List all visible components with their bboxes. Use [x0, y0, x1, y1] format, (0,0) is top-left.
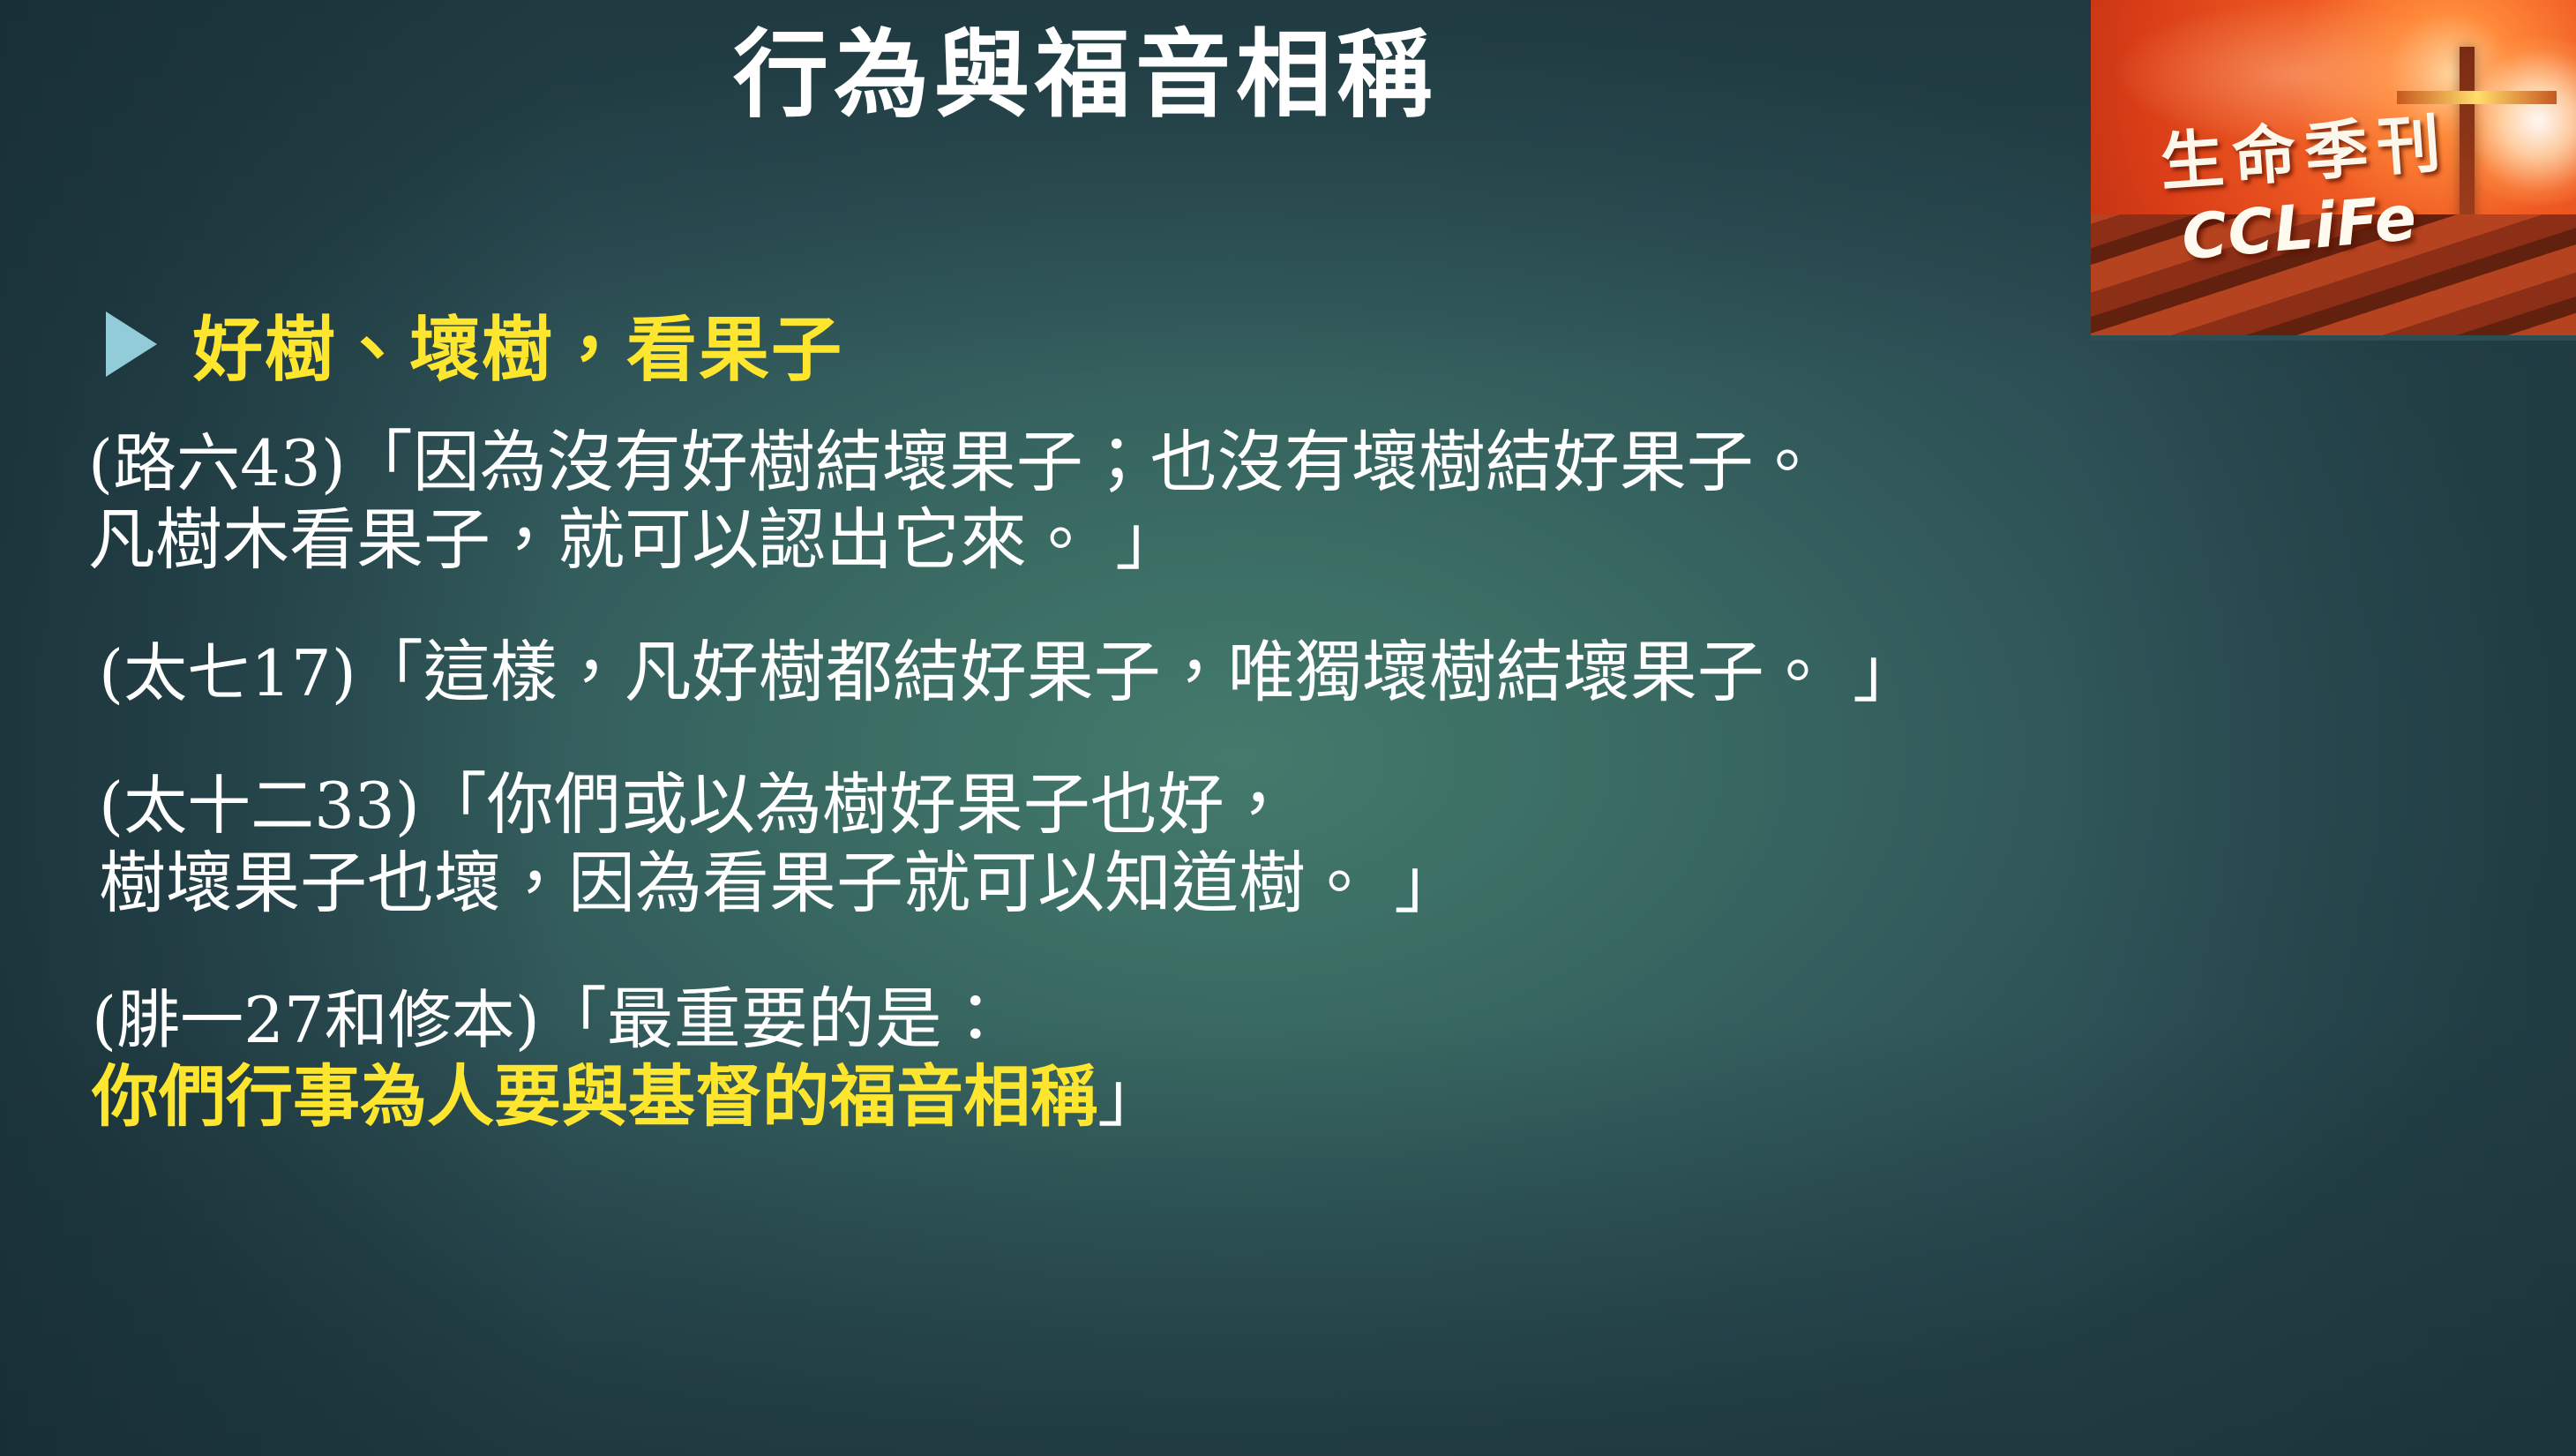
slide-body: 好樹、壞樹，看果子 (路六43)「因為沒有好樹結壞果子；也沒有壞樹結好果子。 凡…: [0, 291, 2576, 1136]
verse-reference: (太七17): [99, 636, 356, 710]
verse-text: 樹壞果子也壞，因為看果子就可以知道樹。 」: [99, 844, 1461, 922]
verse-line: (腓一27和修本)「最重要的是：: [92, 980, 2576, 1058]
verse-line: (太七17)「這樣，凡好樹都結好果子，唯獨壞樹結壞果子。 」: [99, 634, 2576, 711]
verse-line: (路六43)「因為沒有好樹結壞果子；也沒有壞樹結好果子。: [88, 424, 2576, 501]
verse-block-matthew-7-17: (太七17)「這樣，凡好樹都結好果子，唯獨壞樹結壞果子。 」: [0, 634, 2576, 711]
verse-reference: (太十二33): [99, 769, 420, 843]
bullet-item-label: 好樹、壞樹，看果子: [192, 293, 843, 395]
verse-block-matthew-12-33: (太十二33)「你們或以為樹好果子也好， 樹壞果子也壞，因為看果子就可以知道樹。…: [0, 766, 2576, 921]
verse-reference: (腓一27和修本): [92, 983, 540, 1057]
verse-block-luke-6-43: (路六43)「因為沒有好樹結壞果子；也沒有壞樹結好果子。 凡樹木看果子，就可以認…: [0, 424, 2576, 579]
verse-text-highlighted: 你們行事為人要與基督的福音相稱: [92, 1057, 1097, 1136]
triangle-bullet-icon: [106, 311, 157, 377]
verse-line: 凡樹木看果子，就可以認出它來。 」: [88, 501, 2576, 579]
page-title: 行為與福音相稱: [0, 21, 2170, 131]
verse-block-philippians-1-27: (腓一27和修本)「最重要的是： 你們行事為人要與基督的福音相稱」: [0, 980, 2576, 1136]
verse-closing-quote: 」: [1097, 1057, 1164, 1136]
bullet-item-good-bad-tree: 好樹、壞樹，看果子: [0, 291, 2576, 397]
verse-text: 「因為沒有好樹結壞果子；也沒有壞樹結好果子。: [346, 423, 1821, 501]
verse-reference: (路六43): [88, 426, 346, 500]
cclife-logo: 生命季刊 CCLiFe: [2091, 0, 2576, 341]
verse-text: 「你們或以為樹好果子也好，: [420, 765, 1292, 844]
verse-line: (太十二33)「你們或以為樹好果子也好，: [99, 766, 2576, 844]
slide-canvas: 行為與福音相稱 生命季刊 CCLiFe 好樹、壞樹，看果子 (路六43)「因為沒…: [0, 0, 2576, 1456]
verse-text: 「這樣，凡好樹都結好果子，唯獨壞樹結壞果子。 」: [356, 633, 1920, 711]
verse-text: 凡樹木看果子，就可以認出它來。 」: [88, 500, 1182, 579]
verse-text: 「最重要的是：: [540, 979, 1009, 1058]
verse-line: 樹壞果子也壞，因為看果子就可以知道樹。 」: [99, 844, 2576, 922]
verse-line: 你們行事為人要與基督的福音相稱」: [92, 1058, 2576, 1136]
